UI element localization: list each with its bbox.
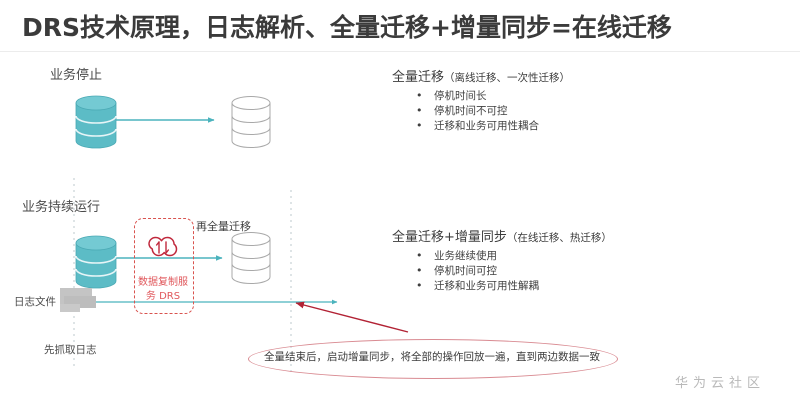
log-file-icon <box>60 288 100 316</box>
section-label-business-running: 业务持续运行 <box>22 196 100 215</box>
online-migration-heading: 全量迁移+增量同步（在线迁移、热迁移） <box>392 230 612 246</box>
refull-migration-label: 再全量迁移 <box>196 218 251 234</box>
full-migration-heading-main: 全量迁移 <box>392 70 444 85</box>
drs-label-line1: 数据复制服 <box>134 276 192 290</box>
slide-canvas: DRS技术原理，日志解析、全量迁移+增量同步=在线迁移 业务停止 <box>0 0 800 406</box>
log-file-label: 日志文件 <box>14 294 56 309</box>
drs-label-line2: 务 DRS <box>134 290 192 304</box>
title-divider <box>0 51 800 52</box>
full-migration-bullet-list: 停机时间长 停机时间不可控 迁移和业务可用性耦合 <box>392 89 570 134</box>
online-migration-heading-main: 全量迁移+增量同步 <box>392 230 507 245</box>
drs-replication-cloud-icon <box>139 232 187 268</box>
full-migration-heading-paren: （离线迁移、一次性迁移） <box>444 72 570 84</box>
drs-service-label: 数据复制服 务 DRS <box>134 276 192 304</box>
online-migration-text-block: 全量迁移+增量同步（在线迁移、热迁移） 业务继续使用 停机时间可控 迁移和业务可… <box>392 230 612 294</box>
list-item: 业务继续使用 <box>392 249 612 264</box>
database-cylinder-filled-icon <box>73 95 119 149</box>
page-title: DRS技术原理，日志解析、全量迁移+增量同步=在线迁移 <box>22 8 672 44</box>
capture-log-label: 先抓取日志 <box>44 342 97 357</box>
callout-text: 全量结束后，启动增量同步，将全部的操作回放一遍，直到两边数据一致 <box>252 349 612 364</box>
callout-pointer-arrow <box>296 303 408 332</box>
online-migration-heading-paren: （在线迁移、热迁移） <box>507 232 612 244</box>
list-item: 停机时间不可控 <box>392 104 570 119</box>
section-label-business-stopped: 业务停止 <box>50 64 102 83</box>
database-cylinder-outline-icon <box>228 95 274 149</box>
list-item: 停机时间长 <box>392 89 570 104</box>
full-migration-heading: 全量迁移（离线迁移、一次性迁移） <box>392 70 570 86</box>
watermark: 华为云社区 <box>675 372 765 391</box>
database-cylinder-filled-icon <box>73 235 119 289</box>
database-cylinder-outline-icon <box>228 231 274 285</box>
list-item: 停机时间可控 <box>392 264 612 279</box>
online-migration-bullet-list: 业务继续使用 停机时间可控 迁移和业务可用性解耦 <box>392 249 612 294</box>
full-migration-text-block: 全量迁移（离线迁移、一次性迁移） 停机时间长 停机时间不可控 迁移和业务可用性耦… <box>392 70 570 134</box>
list-item: 迁移和业务可用性解耦 <box>392 279 612 294</box>
list-item: 迁移和业务可用性耦合 <box>392 119 570 134</box>
